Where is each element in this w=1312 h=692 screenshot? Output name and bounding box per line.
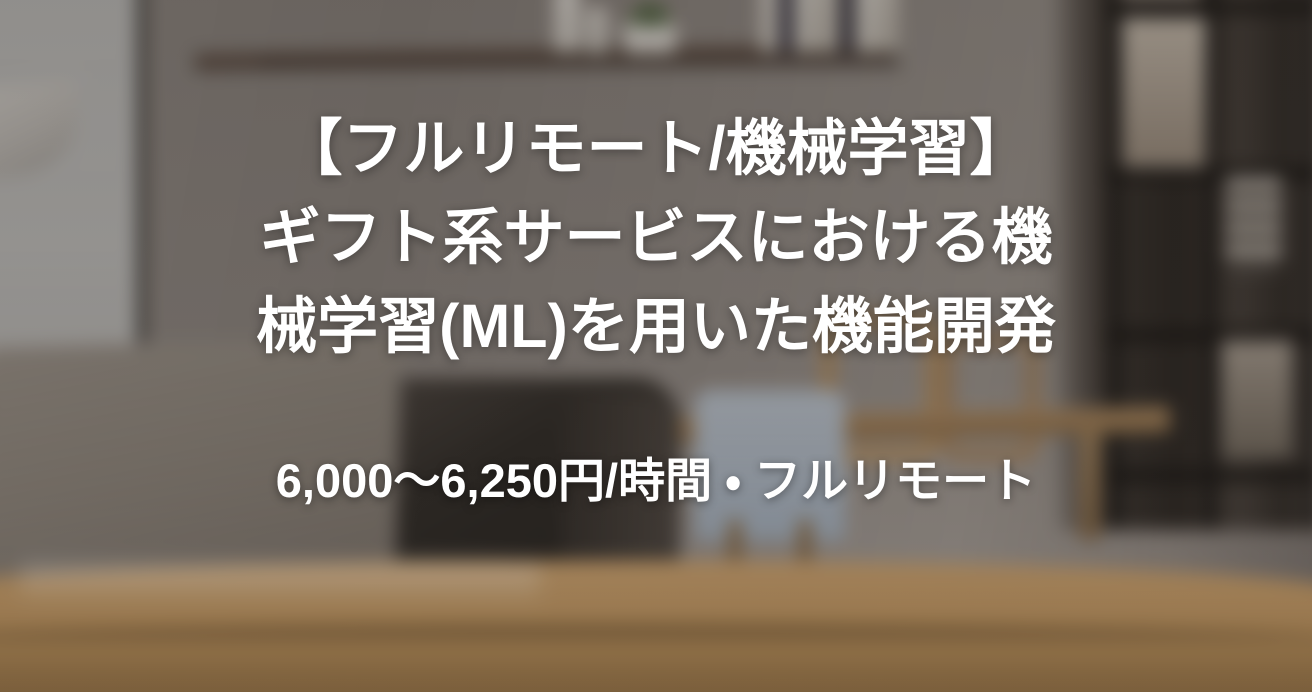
- rate-and-work-style-subtitle: 6,000〜6,250円/時間 ・ フルリモート: [206, 451, 1106, 511]
- page-title: 【フルリモート/機械学習】ギフト系サービスにおける機械学習(ML)を用いた機能開…: [256, 104, 1056, 371]
- job-posting-banner: 【フルリモート/機械学習】ギフト系サービスにおける機械学習(ML)を用いた機能開…: [0, 0, 1312, 692]
- banner-content: 【フルリモート/機械学習】ギフト系サービスにおける機械学習(ML)を用いた機能開…: [0, 0, 1312, 692]
